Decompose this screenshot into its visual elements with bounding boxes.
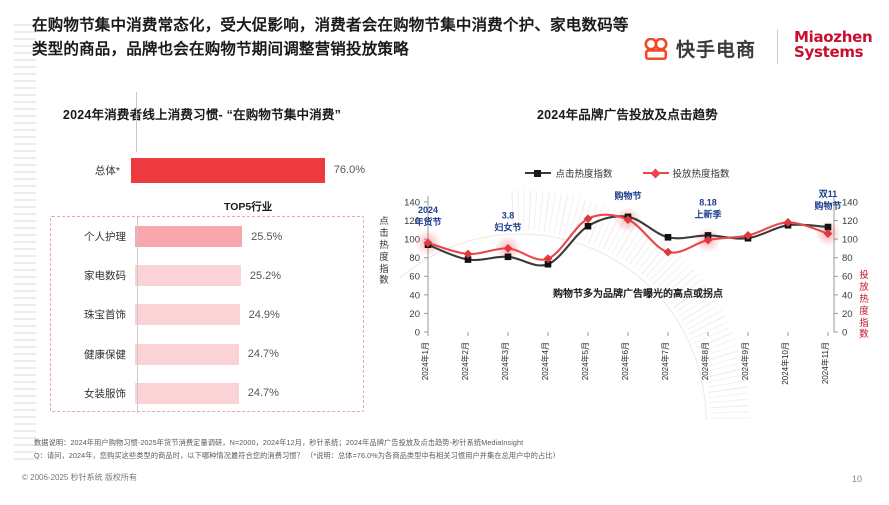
y-tick-label-right: 60 <box>842 272 853 283</box>
top5-row-label: 健康保健 <box>51 347 135 362</box>
kuaishou-logo-text: 快手电商 <box>676 35 756 62</box>
miaozhen-logo-line2: Systems <box>794 45 872 60</box>
x-tick-label: 2024年5月 <box>580 342 590 380</box>
overall-bar-row: 总体* 76.0% <box>28 152 376 188</box>
overall-label: 总体* <box>28 163 130 178</box>
legend-item-spend-index: 投放热度指数 <box>643 166 730 180</box>
y-tick-label-left: 60 <box>409 272 420 283</box>
top5-caption: TOP5行业 <box>224 199 272 214</box>
annotation-line1: 3.8 <box>502 210 515 220</box>
radial-tick <box>704 469 743 479</box>
y-tick-label-right: 40 <box>842 290 853 301</box>
top5-row: 珠宝首饰24.9% <box>51 295 363 334</box>
radial-tick <box>697 489 734 500</box>
miaozhen-logo: Miaozhen Systems <box>794 30 872 60</box>
y-tick-label-right: 120 <box>842 216 858 227</box>
page-title: 在购物节集中消费常态化，受大促影响，消费者会在购物节集中消费个护、家电数码等类型… <box>32 14 632 62</box>
top5-rows: 个人护理25.5%家电数码25.2%珠宝首饰24.9%健康保健24.7%女装服饰… <box>51 217 363 413</box>
right-chart-panel: 2024年品牌广告投放及点击趋势 点击热度指数 投放热度指数 点击热度指数 投放… <box>380 104 875 414</box>
line-chart-area: 0020204040606080801001001201201401402024… <box>380 188 875 414</box>
top5-row-bar <box>135 383 239 404</box>
radial-tick <box>705 464 744 473</box>
footer-notes: 数据说明：2024年用户购物习惯-2025年货节消费定量调研，N=2000，20… <box>34 436 834 463</box>
top5-row-bar <box>135 226 242 247</box>
radial-tick <box>710 428 750 430</box>
y-tick-label-left: 0 <box>415 327 420 338</box>
top5-row-bar <box>135 304 240 325</box>
left-chart-panel: 2024年消费者线上消费习惯- “在购物节集中消费” 总体* 76.0% TOP… <box>28 104 376 414</box>
annotation-line1: 双11 <box>819 189 838 199</box>
legend-marker-diamond <box>650 169 660 179</box>
y-tick-label-left: 20 <box>409 309 420 320</box>
top5-row-value: 24.9% <box>240 309 280 321</box>
data-point-click <box>665 234 672 241</box>
top5-row-bar <box>135 344 239 365</box>
annotation-line2: 上新季 <box>694 208 722 219</box>
overall-axis-line <box>136 92 137 152</box>
left-chart-title: 2024年消费者线上消费习惯- “在购物节集中消费” <box>28 104 376 123</box>
y-tick-label-right: 80 <box>842 253 853 264</box>
annotation-line2: 年货节 <box>414 216 441 227</box>
annotation-line1: 6.18 <box>619 188 637 189</box>
footer-note-question: Q：请问，2024年，您购买这些类型的商品时，以下哪种情况最符合您的消费习惯？ … <box>34 449 834 462</box>
data-point-click <box>585 223 592 230</box>
legend-label-click-index: 点击热度指数 <box>555 166 612 180</box>
top5-group-box: 个人护理25.5%家电数码25.2%珠宝首饰24.9%健康保健24.7%女装服饰… <box>50 216 364 412</box>
x-tick-label: 2024年3月 <box>500 342 510 380</box>
annotation-line2: 购物节 <box>814 200 841 211</box>
footer-note-source: 数据说明：2024年用户购物习惯-2025年货节消费定量调研，N=2000，20… <box>34 436 834 449</box>
radial-tick <box>702 474 740 485</box>
annotation-line1: 2024 <box>418 205 438 215</box>
annotation-line2: 妇女节 <box>493 221 521 232</box>
top5-row-label: 个人护理 <box>51 229 135 244</box>
x-tick-label: 2024年11月 <box>820 342 830 384</box>
x-tick-label: 2024年4月 <box>540 342 550 380</box>
top5-axis-line <box>137 217 138 413</box>
top5-row: 女装服饰24.7% <box>51 374 363 413</box>
y-tick-label-right: 140 <box>842 197 858 208</box>
top5-row-value: 25.2% <box>241 270 281 282</box>
legend-item-click-index: 点击热度指数 <box>525 166 612 180</box>
overall-value: 76.0% <box>325 164 365 176</box>
x-tick-label: 2024年9月 <box>740 342 750 380</box>
y-tick-label-right: 20 <box>842 309 853 320</box>
legend-marker-square <box>534 170 541 177</box>
x-tick-label: 2024年8月 <box>700 342 710 380</box>
legend-line-red <box>643 172 669 174</box>
top5-row-value: 24.7% <box>239 387 279 399</box>
x-tick-label: 2024年6月 <box>620 342 630 380</box>
overall-bar <box>131 158 325 183</box>
radial-tick <box>699 484 737 497</box>
right-chart-title: 2024年品牌广告投放及点击趋势 <box>380 104 875 123</box>
radial-tick <box>710 423 750 424</box>
copyright-text: © 2006-2025 秒针系统 版权所有 <box>22 472 137 483</box>
y-tick-label-right: 100 <box>842 235 858 246</box>
data-point-click <box>505 253 512 260</box>
top5-row-label: 珠宝首饰 <box>51 307 135 322</box>
top5-row-label: 家电数码 <box>51 268 135 283</box>
chart-legend: 点击热度指数 投放热度指数 <box>380 166 875 180</box>
y-tick-label-left: 80 <box>409 253 420 264</box>
top5-row-bar <box>135 265 241 286</box>
top5-row-value: 25.5% <box>242 231 282 243</box>
data-point-spend <box>664 248 673 257</box>
x-tick-label: 2024年1月 <box>420 342 430 380</box>
annotation-line2: 购物节 <box>614 190 641 201</box>
top5-row: 家电数码25.2% <box>51 256 363 295</box>
logo-divider <box>777 30 778 64</box>
top5-row: 健康保健24.7% <box>51 335 363 374</box>
y-tick-label-left: 40 <box>409 290 420 301</box>
legend-label-spend-index: 投放热度指数 <box>673 166 730 180</box>
annotation-line1: 8.18 <box>699 197 717 207</box>
x-tick-label: 2024年2月 <box>460 342 470 380</box>
radial-tick <box>695 493 732 500</box>
top5-row-label: 女装服饰 <box>51 386 135 401</box>
x-tick-label: 2024年10月 <box>780 342 790 385</box>
slide-header: 在购物节集中消费常态化，受大促影响，消费者会在购物节集中消费个护、家电数码等类型… <box>0 14 889 76</box>
kuaishou-mark-icon <box>643 38 669 60</box>
kuaishou-logo: 快手电商 <box>643 35 756 62</box>
radial-tick <box>701 479 739 491</box>
page-number: 10 <box>852 474 862 484</box>
legend-line-black <box>525 172 551 174</box>
top5-row: 个人护理25.5% <box>51 217 363 256</box>
y-tick-label-right: 0 <box>842 327 847 338</box>
x-tick-label: 2024年7月 <box>660 342 670 380</box>
chart-inline-note: 购物节多为品牌广告曝光的高点或拐点 <box>553 287 723 300</box>
top5-row-value: 24.7% <box>239 348 279 360</box>
